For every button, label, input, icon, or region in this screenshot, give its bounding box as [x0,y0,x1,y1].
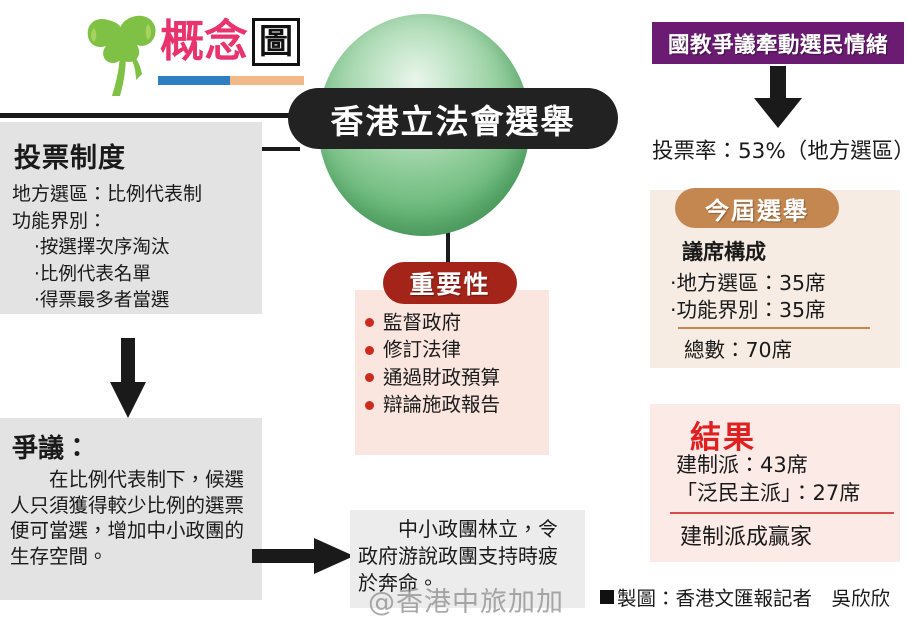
importance-item-4: 辯論施政報告 [383,394,500,415]
infographic-canvas: 概念 圖 投票制度 地方選區：比例代表制 功能界別： ‧按選擇次序淘汰 ‧比例代… [0,0,907,620]
voting-system-line-2: 功能界別： [12,208,262,234]
seat-total: 總數：70席 [684,333,896,363]
list-item: 通過財政預算 [365,367,549,388]
logo-text-map: 圖 [252,18,300,66]
concept-map-logo: 概念 圖 [78,4,278,100]
voting-system-sub-2: ‧比例代表名單 [34,262,262,288]
seat-composition-heading: 議席構成 [682,236,896,266]
bullet-dot-icon [365,346,374,355]
arrow-right-icon [252,536,356,576]
page-title: 香港立法會選舉 [331,95,576,143]
list-item: 監督政府 [365,312,549,333]
panel-dispute-body: 在比例代表制下，候選人只須獲得較少比例的選票便可當選，增加中小政團的生存空間。 [10,467,252,570]
result-title: 結果 [690,412,756,457]
panel-dispute: 爭議： 在比例代表制下，候選人只須獲得較少比例的選票便可當選，增加中小政團的生存… [0,418,262,600]
importance-item-3: 通過財政預算 [383,367,500,388]
main-title-pill: 香港立法會選舉 [288,88,618,149]
list-item: 辯論施政報告 [365,394,549,415]
header-rule [0,113,330,118]
watermark-text: @香港中旅加加 [368,580,598,619]
voting-system-line-1: 地方選區：比例代表制 [12,181,262,207]
result-body: 建制派：43席 「泛民主派」：27席 建制派成贏家 [668,452,900,551]
bullet-dot-icon [365,318,374,327]
credit-line: 製圖：香港文匯報記者 吳欣欣 [600,582,907,611]
green-clover-brush-icon [78,6,170,98]
banner-national-education: 國教爭議牽動選民情緒 [652,22,904,64]
seat-row-functional: ‧功能界別：35席 [670,297,896,324]
importance-item-2: 修訂法律 [383,339,461,360]
panel-dispute-title: 爭議： [12,428,262,465]
importance-pill-label: 重要性 [409,265,490,301]
square-bullet-icon [600,590,614,604]
importance-pill: 重要性 [383,262,517,304]
voting-system-sub-3: ‧得票最多者當選 [34,288,262,314]
logo-text-concept: 概念 [160,20,248,64]
logo-bar-blue [158,76,230,85]
current-election-body: 議席構成 ‧地方選區：35席 ‧功能界別：35席 總數：70席 [666,236,896,363]
divider [678,327,870,329]
bullet-dot-icon [365,373,374,382]
result-row-proestablishment: 建制派：43席 [676,452,900,480]
voting-system-sub-1: ‧按選擇次序淘汰 [34,235,262,261]
logo-bar-orange [230,76,304,85]
seat-row-geographical: ‧地方選區：35席 [670,270,896,297]
panel-voting-system-title: 投票制度 [14,136,262,175]
arrow-down-icon [752,66,804,130]
list-item: 修訂法律 [365,339,549,360]
panel-voting-system: 投票制度 地方選區：比例代表制 功能界別： ‧按選擇次序淘汰 ‧比例代表名單 ‧… [0,122,262,314]
arrow-down-icon [108,338,148,420]
result-verdict: 建制派成贏家 [680,519,900,551]
credit-text: 製圖：香港文匯報記者 吳欣欣 [617,582,890,611]
divider [670,512,894,514]
banner-label: 國教爭議牽動選民情緒 [668,28,888,59]
bullet-dot-icon [365,401,374,410]
current-election-pill: 今屆選舉 [675,188,839,228]
importance-item-1: 監督政府 [383,312,461,333]
current-election-pill-label: 今屆選舉 [705,191,809,226]
importance-list: 監督政府 修訂法律 通過財政預算 辯論施政報告 [365,312,549,422]
turnout-rate: 投票率：53%（地方選區） [652,134,907,165]
result-row-pandemocrats: 「泛民主派」：27席 [676,480,900,508]
